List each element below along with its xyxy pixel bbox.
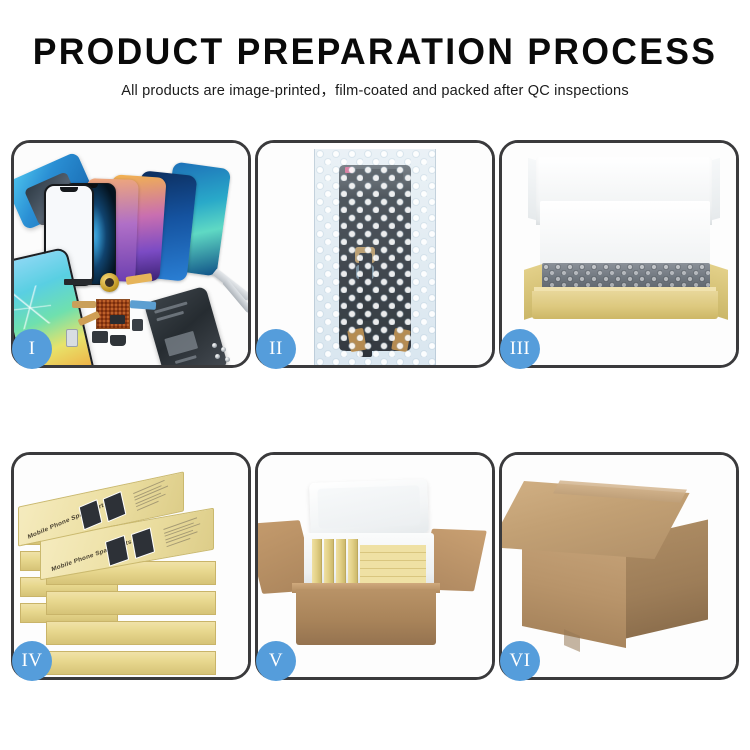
process-step-card-2[interactable]: II bbox=[255, 140, 495, 368]
page-subtitle: All products are image-printed，film-coat… bbox=[0, 80, 750, 102]
step-3-image bbox=[502, 143, 736, 365]
step-badge-5: V bbox=[256, 641, 296, 681]
chip-part-3-icon bbox=[92, 331, 108, 343]
chip-part-2-icon bbox=[132, 319, 143, 331]
bubble-wrap-bag-icon bbox=[314, 149, 436, 365]
flex-cable-2-icon bbox=[72, 301, 96, 308]
page-title: PRODUCT PREPARATION PROCESS bbox=[15, 30, 735, 74]
bubble-texture bbox=[315, 149, 435, 365]
carton-front-face bbox=[296, 589, 436, 645]
yellow-boxes-in-foam bbox=[312, 539, 426, 583]
page-header: PRODUCT PREPARATION PROCESS All products… bbox=[0, 0, 750, 102]
lid-thumbnail-front-2 bbox=[131, 527, 155, 559]
stacked-box-r3 bbox=[46, 621, 216, 645]
stacked-box-r4 bbox=[46, 651, 216, 675]
step-badge-6: VI bbox=[500, 641, 540, 681]
lid-spec-lines-front bbox=[163, 516, 204, 550]
foam-lid-inner-face bbox=[317, 485, 420, 529]
step-1-image bbox=[14, 143, 248, 365]
step-badge-1: I bbox=[12, 329, 52, 369]
stacked-box-r2 bbox=[46, 591, 216, 615]
copper-mesh-part-icon bbox=[96, 299, 130, 329]
camera-module-icon bbox=[66, 329, 78, 347]
step-4-image: Mobile Phone Spare Parts Mobile Phone Sp… bbox=[14, 455, 248, 677]
foam-box-lid-icon bbox=[309, 479, 429, 537]
process-step-card-3[interactable]: III bbox=[499, 140, 739, 368]
yellow-boxes-stacked-flat bbox=[360, 545, 426, 583]
process-step-card-5[interactable]: V bbox=[255, 452, 495, 680]
foam-sheet-icon bbox=[540, 201, 710, 267]
step-6-image bbox=[502, 455, 736, 677]
lid-thumbnail-rear-2 bbox=[103, 491, 127, 522]
step-5-image bbox=[258, 455, 492, 677]
process-step-card-4[interactable]: Mobile Phone Spare Parts Mobile Phone Sp… bbox=[11, 452, 251, 680]
process-step-card-1[interactable]: I bbox=[11, 140, 251, 368]
step-badge-2: II bbox=[256, 329, 296, 369]
lid-thumbnail-front-1 bbox=[105, 535, 129, 567]
speaker-module-icon bbox=[110, 335, 126, 346]
box-stack: Mobile Phone Spare Parts Mobile Phone Sp… bbox=[18, 465, 248, 675]
step-badge-4: IV bbox=[12, 641, 52, 681]
lid-spec-lines-rear bbox=[133, 478, 173, 513]
wireless-coil-part-icon bbox=[100, 273, 119, 292]
process-steps-grid: I II bbox=[11, 140, 739, 680]
process-step-card-6[interactable]: VI bbox=[499, 452, 739, 680]
black-strip-part-icon bbox=[64, 279, 92, 285]
box-tray-front bbox=[532, 291, 718, 319]
flex-cable-3-icon bbox=[130, 300, 156, 310]
step-badge-3: III bbox=[500, 329, 540, 369]
step-2-image bbox=[258, 143, 492, 365]
chip-part-1-icon bbox=[110, 315, 125, 324]
